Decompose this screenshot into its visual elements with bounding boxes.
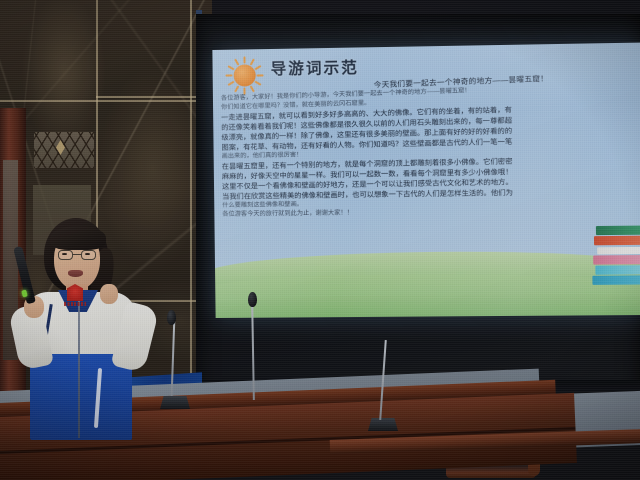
gooseneck-mic-base [160, 396, 190, 409]
book-item [592, 275, 640, 285]
wall-grout-line [0, 100, 212, 102]
presentation-slide: 导游词示范 今天我们要一起去一个神奇的地方——昙曜五窟！ 各位游客，大家好！我是… [212, 42, 640, 318]
gooseneck-mic-head [167, 310, 176, 325]
student-presenter [8, 218, 158, 438]
right-hand [100, 284, 118, 304]
wall-grout-line [190, 0, 192, 400]
gooseneck-mic-base [368, 418, 398, 431]
gooseneck-mic-head [248, 292, 257, 307]
book-item [597, 247, 640, 255]
hair-fringe [50, 226, 106, 250]
sun-core [234, 64, 256, 86]
jacket-zipper [78, 296, 80, 438]
book-item [593, 255, 640, 265]
wall-grout-line [96, 96, 212, 98]
slide-body-text: 各位游客，大家好！我是你们的小导游，今天我们要一起去一个神奇的地方——昙曜五窟！… [221, 89, 640, 220]
school-emblem-badge [64, 284, 86, 306]
presentation-photo-scene: 导游词示范 今天我们要一起去一个神奇的地方——昙曜五窟！ 各位游客，大家好！我是… [0, 0, 640, 480]
book-item [595, 265, 640, 275]
slide-body-line: 各位游客今天的旅行就到此为止，谢谢大家！！ [222, 207, 640, 218]
book-item [594, 236, 640, 246]
uniform-jacket-lower [30, 354, 132, 440]
diamond-lattice-panel [34, 132, 94, 168]
sun-icon [224, 55, 265, 96]
book-item [596, 226, 640, 236]
stacked-books-decoration [592, 217, 640, 285]
slide-title: 导游词示范 [271, 56, 359, 80]
mouth [68, 270, 83, 277]
